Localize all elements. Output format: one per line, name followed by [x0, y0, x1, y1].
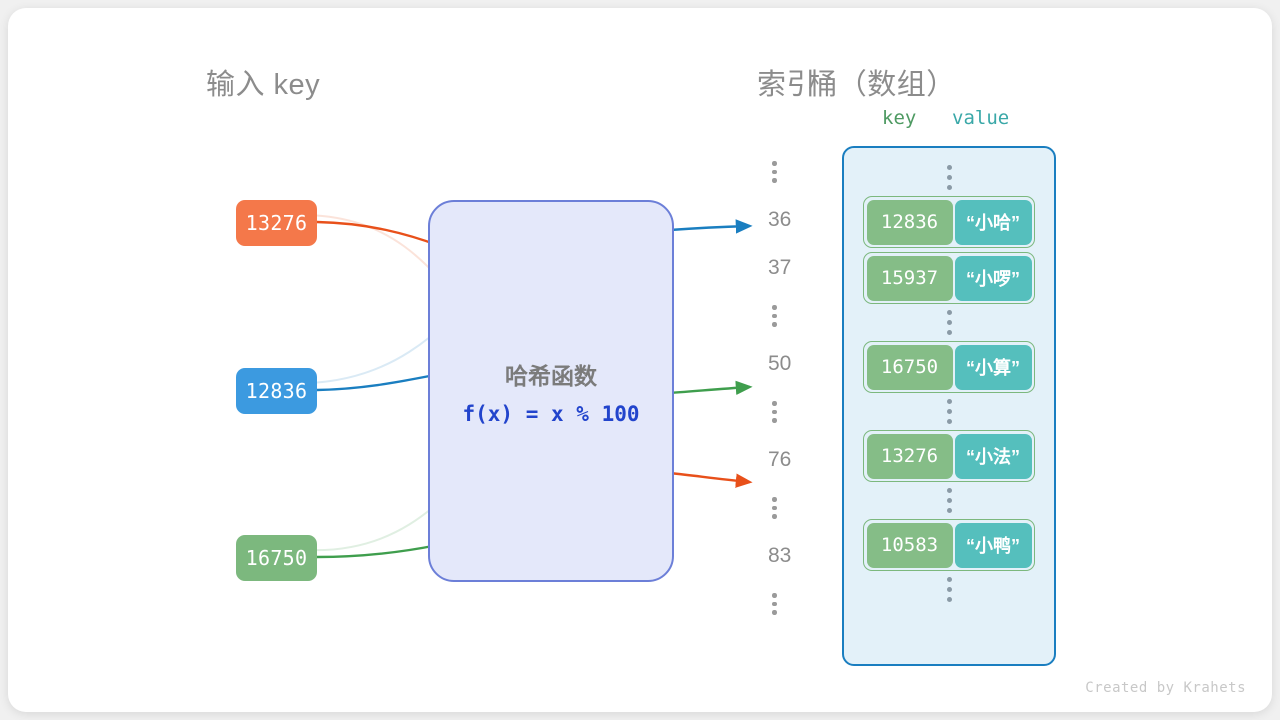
bucket-ellipsis-icon — [947, 306, 952, 339]
index-column: 3637507683 — [768, 148, 824, 628]
hash-function-box — [428, 200, 674, 582]
input-key-box[interactable]: 12836 — [236, 368, 317, 414]
input-key-box[interactable]: 16750 — [236, 535, 317, 581]
bucket-entry-key: 12836 — [867, 200, 953, 245]
bucket-ellipsis-icon — [947, 484, 952, 517]
hash-function-title: 哈希函数 — [505, 357, 597, 391]
index-row-ellipsis — [768, 580, 824, 628]
heading-value: value — [952, 107, 1009, 129]
bucket-entry-key: 16750 — [867, 345, 953, 390]
bucket-entry-key: 13276 — [867, 434, 953, 479]
vertical-ellipsis-icon — [768, 593, 777, 615]
index-number: 76 — [768, 448, 791, 472]
bucket-entry-value: “小法” — [955, 434, 1032, 479]
bucket-entry[interactable]: 16750“小算” — [863, 341, 1035, 393]
hash-function-formula: f(x) = x % 100 — [462, 402, 639, 426]
heading-bucket: 桶（数组） — [808, 61, 956, 103]
index-row: 36 — [768, 196, 824, 244]
index-row: 50 — [768, 340, 824, 388]
bucket-ellipsis-icon — [947, 161, 952, 194]
bucket-entry-value: “小哈” — [955, 200, 1032, 245]
bucket-array: 12836“小哈”15937“小啰”16750“小算”13276“小法”1058… — [842, 146, 1056, 666]
bucket-entry-key: 15937 — [867, 256, 953, 301]
bucket-entry-key: 10583 — [867, 523, 953, 568]
bucket-entry[interactable]: 15937“小啰” — [863, 252, 1035, 304]
bucket-entry-value: “小算” — [955, 345, 1032, 390]
index-row: 76 — [768, 436, 824, 484]
vertical-ellipsis-icon — [768, 305, 777, 327]
vertical-ellipsis-icon — [768, 401, 777, 423]
index-number: 37 — [768, 256, 791, 280]
vertical-ellipsis-icon — [768, 161, 777, 183]
index-row: 83 — [768, 532, 824, 580]
index-row: 37 — [768, 244, 824, 292]
index-number: 50 — [768, 352, 791, 376]
index-row-ellipsis — [768, 148, 824, 196]
index-row-ellipsis — [768, 292, 824, 340]
bucket-entry-value: “小鸭” — [955, 523, 1032, 568]
bucket-entry[interactable]: 13276“小法” — [863, 430, 1035, 482]
index-number: 36 — [768, 208, 791, 232]
index-row-ellipsis — [768, 388, 824, 436]
heading-index: 索引 — [757, 61, 816, 103]
bucket-entry[interactable]: 12836“小哈” — [863, 196, 1035, 248]
heading-key: key — [882, 107, 916, 129]
vertical-ellipsis-icon — [768, 497, 777, 519]
index-number: 83 — [768, 544, 791, 568]
bucket-ellipsis-icon — [947, 395, 952, 428]
watermark-credit: Created by Krahets — [1085, 680, 1246, 696]
bucket-entry[interactable]: 10583“小鸭” — [863, 519, 1035, 571]
index-row-ellipsis — [768, 484, 824, 532]
heading-input-key: 输入 key — [206, 61, 320, 103]
bucket-ellipsis-icon — [947, 573, 952, 606]
diagram-card: 输入 key 索引 桶（数组） key value 13276 12836 16… — [8, 8, 1272, 712]
bucket-entry-value: “小啰” — [955, 256, 1032, 301]
input-key-box[interactable]: 13276 — [236, 200, 317, 246]
